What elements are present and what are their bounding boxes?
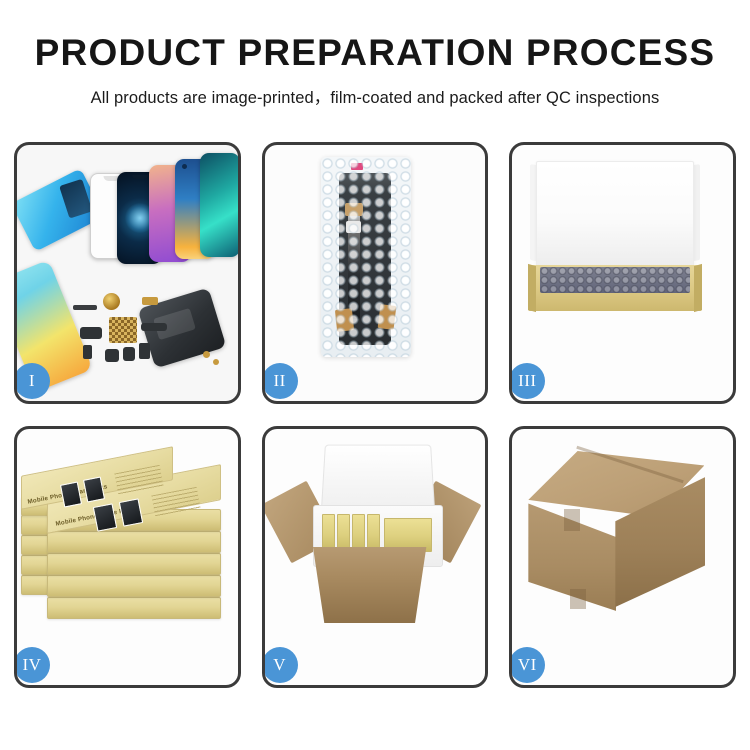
part-camera-module xyxy=(105,349,119,362)
page-subtitle: All products are image-printed，film-coat… xyxy=(0,84,750,108)
gold-box-row-5 xyxy=(384,518,432,552)
part-speaker-coin xyxy=(103,293,120,310)
phone-fan-group xyxy=(17,145,238,401)
step-photo-foam-carton xyxy=(265,429,486,685)
step-photo-inner-box xyxy=(512,145,733,401)
process-step-grid: I II xyxy=(14,142,736,688)
step-card-6[interactable]: VI xyxy=(509,426,736,688)
step-badge-1: I xyxy=(14,363,50,399)
gold-box-row-1 xyxy=(322,514,335,552)
step-photo-sealed-carton xyxy=(512,429,733,685)
kraft-box-tray xyxy=(528,265,702,311)
step-badge-4: IV xyxy=(14,647,50,683)
step-card-3[interactable]: III xyxy=(509,142,736,404)
part-chip-grid xyxy=(109,317,137,343)
stacked-box-r5 xyxy=(47,597,221,619)
kraft-box-stack: Mobile Phone Spare Parts Mobile Phone Sp… xyxy=(17,429,238,685)
part-flex-cable xyxy=(141,323,167,331)
bubble-wrap-bag xyxy=(321,157,411,357)
foam-box-lid xyxy=(321,445,435,510)
gold-box-row-3 xyxy=(352,514,365,552)
part-screw-a xyxy=(203,351,210,358)
page-title: PRODUCT PREPARATION PROCESS xyxy=(0,34,750,73)
step-photo-bubble-wrap xyxy=(265,145,486,401)
step-photo-products xyxy=(17,145,238,401)
step-card-2[interactable]: II xyxy=(262,142,489,404)
part-vibrator-motor xyxy=(139,343,150,359)
carton-body-front xyxy=(307,547,433,623)
carton-seam-tab-lower xyxy=(570,589,586,609)
step-card-5[interactable]: V xyxy=(262,426,489,688)
part-button-flex xyxy=(83,345,92,359)
stacked-box-r3 xyxy=(47,553,221,575)
stacked-box-r4 xyxy=(47,575,221,597)
product-preparation-page: PRODUCT PREPARATION PROCESS All products… xyxy=(0,0,750,750)
box-lid-white xyxy=(536,161,694,267)
part-antenna-strip xyxy=(73,305,97,310)
gold-box-row-2 xyxy=(337,514,350,552)
part-sim-tray xyxy=(123,347,135,361)
stacked-box-r2 xyxy=(47,531,221,553)
tray-lip-right xyxy=(694,264,702,312)
step-card-4[interactable]: Mobile Phone Spare Parts Mobile Phone Sp… xyxy=(14,426,241,688)
part-gold-bracket xyxy=(142,297,158,305)
page-header: PRODUCT PREPARATION PROCESS All products… xyxy=(0,0,750,108)
carton-seam-tab-upper xyxy=(564,509,580,531)
step-card-1[interactable]: I xyxy=(14,142,241,404)
step-badge-2: II xyxy=(262,363,298,399)
gold-box-row-4 xyxy=(367,514,380,552)
phone-screen-teal xyxy=(200,153,238,257)
step-photo-stacked-boxes: Mobile Phone Spare Parts Mobile Phone Sp… xyxy=(17,429,238,685)
foam-bubble-insert xyxy=(540,267,690,293)
tray-lip-left xyxy=(528,264,536,312)
part-screw-b xyxy=(213,359,219,365)
step-badge-5: V xyxy=(262,647,298,683)
bubble-texture-overlay xyxy=(321,157,411,357)
part-connector-small xyxy=(80,327,102,339)
